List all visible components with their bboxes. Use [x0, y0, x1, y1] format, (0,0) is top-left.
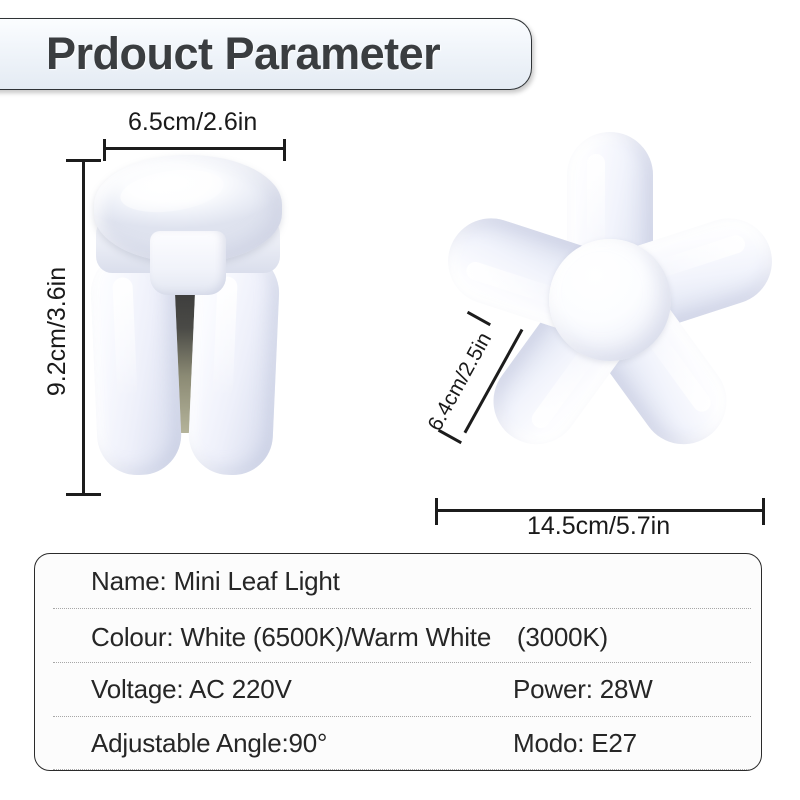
spec-table: Name: Mini Leaf Light Colour: White (650… — [34, 553, 762, 771]
blade-highlight — [112, 277, 137, 398]
spec-voltage-value: Voltage: AC 220V — [91, 674, 292, 705]
cap-highlight — [118, 164, 227, 218]
flower-center-hub — [549, 239, 671, 361]
table-row: Name: Mini Leaf Light — [35, 554, 761, 608]
open-width-tick-right — [762, 498, 765, 525]
open-width-tick-left — [435, 498, 438, 525]
folded-height-label: 9.2cm/3.6in — [43, 267, 72, 396]
height-dimension-tick-top — [66, 159, 101, 162]
height-dimension-line — [82, 160, 85, 496]
page-title: Prdouct Parameter — [46, 24, 440, 84]
lamp-neck — [150, 231, 226, 295]
spec-name-value: Name: Mini Leaf Light — [91, 566, 340, 597]
product-parameter-infographic: Prdouct Parameter 6.5cm/2.6in 9.2cm/3.6i… — [0, 0, 800, 800]
width-dimension-line — [103, 147, 285, 150]
open-width-label: 14.5cm/5.7in — [527, 512, 670, 541]
table-row: Adjustable Angle:90° Modo: E27 — [35, 716, 761, 770]
folded-width-label: 6.5cm/2.6in — [128, 108, 257, 137]
folded-lamp-image — [88, 155, 288, 485]
blade-highlight — [213, 276, 238, 397]
petal-highlight — [587, 154, 605, 250]
spec-colour-value: Colour: White (6500K)/Warm White (3000K) — [91, 617, 608, 654]
width-dimension-tick-right — [283, 139, 286, 161]
open-flower-lamp-image — [455, 115, 765, 485]
height-dimension-tick-bottom — [66, 493, 101, 496]
width-dimension-tick-left — [103, 139, 106, 161]
table-row: Voltage: AC 220V Power: 28W — [35, 662, 761, 716]
spec-angle-value: Adjustable Angle:90° — [91, 728, 327, 759]
petal-highlight — [464, 260, 561, 307]
spec-mode-value: Modo: E27 — [513, 728, 637, 759]
table-row: Colour: White (6500K)/Warm White (3000K) — [35, 608, 761, 662]
spec-power-value: Power: 28W — [513, 674, 653, 705]
